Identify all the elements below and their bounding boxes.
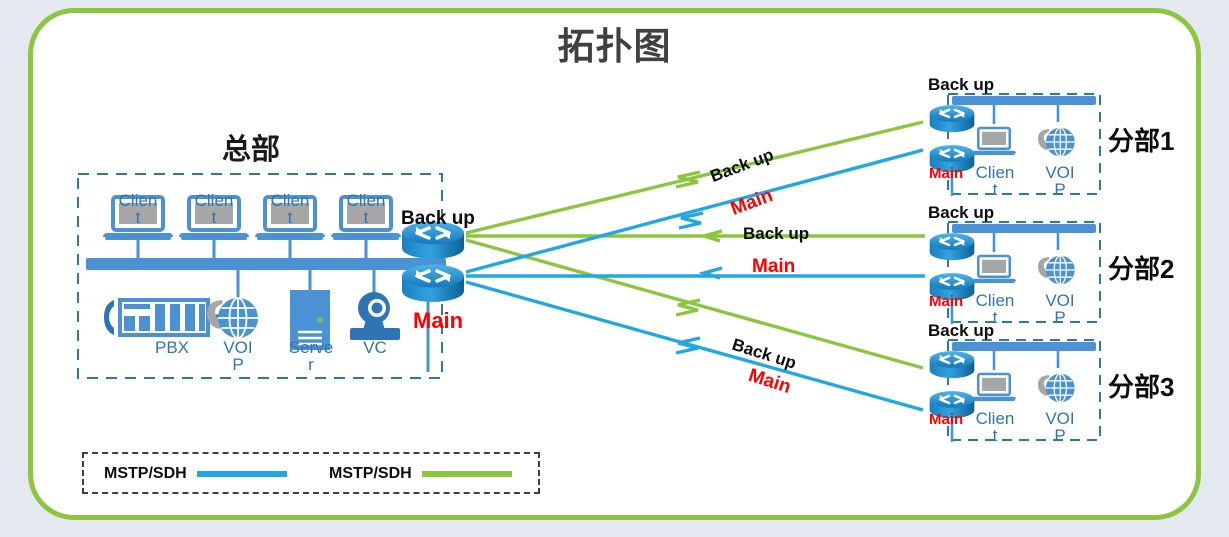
branch-2-title: 分部2 [1108, 256, 1174, 283]
branch-1-backup-label: Back up [928, 76, 994, 93]
vc-label: VC [355, 339, 395, 356]
branch-3-client-label: Client [973, 410, 1017, 445]
legend-item-1-label: MSTP/SDH [104, 466, 187, 482]
branch-2-voip-label-line2: P [1054, 308, 1065, 327]
hq-client-3-label: Client [268, 192, 312, 227]
branch-1-client-label-line1: Clien [976, 163, 1015, 182]
branch-2-client-label-line1: Clien [976, 291, 1015, 310]
branch-1-title: 分部1 [1108, 128, 1174, 155]
hq-client-2-label-line2: t [212, 208, 217, 227]
hq-client-3-label-line1: Clien [271, 191, 310, 210]
legend: MSTP/SDH MSTP/SDH [82, 452, 540, 494]
hq-client-4-label-line1: Clien [347, 191, 386, 210]
backup-links [466, 122, 925, 368]
hq-main-label: Main [413, 310, 463, 332]
link-direction-markers [676, 172, 722, 353]
branch-2-client-icon [972, 256, 1016, 283]
hq-client-4-label: Client [344, 192, 388, 227]
branch-1-main-label: Main [929, 166, 963, 181]
branch-1-bus [952, 96, 1096, 105]
branch-2-router-backup [930, 233, 975, 260]
voip-label: VOIP [216, 339, 260, 374]
branch-1-client-icon [972, 128, 1016, 155]
branch-3-main-label: Main [929, 412, 963, 427]
hq-client-1-label: Client [116, 192, 160, 227]
topology-diagram-canvas: 拓扑图 [0, 0, 1229, 537]
branch-3-backup-label: Back up [928, 322, 994, 339]
voip-icon [207, 298, 258, 338]
branch-3-voip-label-line2: P [1054, 426, 1065, 445]
pbx-label: PBX [143, 339, 201, 356]
branch-1-client-label: Client [973, 164, 1017, 199]
hq-bus-bar [86, 258, 446, 270]
hq-router-main [402, 265, 464, 303]
branch-1-router-backup [930, 105, 975, 132]
server-label-line2: r [308, 355, 314, 374]
branch-1-voip-label: VOIP [1038, 164, 1082, 199]
branch-2-voip-label: VOIP [1038, 292, 1082, 327]
branch-2-bus [952, 224, 1096, 233]
legend-item-2-label: MSTP/SDH [329, 466, 412, 482]
hq-client-1-label-line2: t [136, 208, 141, 227]
link-main-label-2: Main [752, 257, 795, 276]
hq-title: 总部 [222, 136, 280, 166]
branch-1-client-label-line2: t [993, 180, 998, 199]
branch-3-client-label-line2: t [993, 426, 998, 445]
hq-client-4-label-line2: t [364, 208, 369, 227]
branch-3-voip-label: VOIP [1038, 410, 1082, 445]
branch-1-voip-label-line1: VOI [1045, 163, 1074, 182]
branch-3-bus [952, 342, 1096, 351]
branch-3-voip-label-line1: VOI [1045, 409, 1074, 428]
hq-client-2-label: Client [192, 192, 236, 227]
branch-3-title: 分部3 [1108, 374, 1174, 401]
legend-item-1-swatch [197, 471, 287, 477]
branch-2-backup-label: Back up [928, 204, 994, 221]
pbx-icon [104, 300, 224, 335]
branch-3-client-icon [972, 374, 1016, 401]
branch-2-voip-label-line1: VOI [1045, 291, 1074, 310]
vc-icon [350, 292, 400, 340]
branch-3-router-backup [930, 351, 975, 378]
legend-item-2-swatch [422, 471, 512, 477]
hq-client-1-label-line1: Clien [119, 191, 158, 210]
branch-3-client-label-line1: Clien [976, 409, 1015, 428]
voip-label-line2: P [232, 355, 243, 374]
link-backup-label-2: Back up [743, 225, 809, 242]
hq-backup-label: Back up [401, 209, 475, 228]
voip-label-line1: VOI [223, 338, 252, 357]
hq-client-3-label-line2: t [288, 208, 293, 227]
branch-1-voip-label-line2: P [1054, 180, 1065, 199]
server-label-line1: Serve [289, 338, 333, 357]
branch-1-voip-icon [1038, 128, 1075, 157]
branch-2-main-label: Main [929, 294, 963, 309]
branch-3-voip-icon [1038, 374, 1075, 403]
main-links [466, 150, 925, 410]
branch-2-voip-icon [1038, 256, 1075, 285]
hq-client-2-label-line1: Clien [195, 191, 234, 210]
server-label: Server [284, 339, 338, 374]
